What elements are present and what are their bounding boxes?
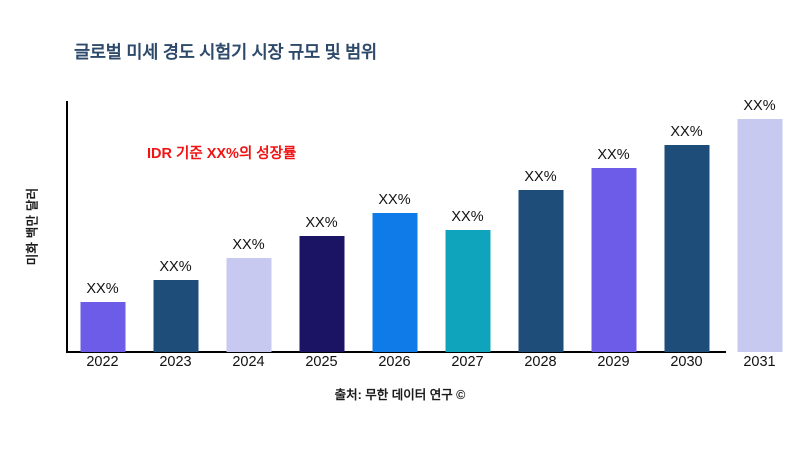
- chart-canvas: 글로벌 미세 경도 시험기 시장 규모 및 범위 미화 백만 달러 IDR 기준…: [0, 0, 800, 450]
- bar-slot: XX%: [577, 101, 650, 352]
- x-tick-2029: 2029: [577, 354, 650, 370]
- bar-slot: XX%: [358, 101, 431, 352]
- x-tick-2022: 2022: [66, 354, 139, 370]
- bar-2028[interactable]: [518, 190, 563, 352]
- bar-slot: XX%: [212, 101, 285, 352]
- x-tick-2030: 2030: [650, 354, 723, 370]
- y-axis-label: 미화 백만 달러: [22, 188, 41, 266]
- y-axis-label-container: 미화 백만 달러: [0, 101, 62, 352]
- source-caption: 출처: 무한 데이터 연구 ©: [0, 384, 800, 403]
- x-tick-2024: 2024: [212, 354, 285, 370]
- bar-slot: XX%: [650, 101, 723, 352]
- bar-value-label-2030: XX%: [670, 124, 702, 140]
- bar-2024[interactable]: [226, 258, 271, 352]
- bar-slot: XX%: [66, 101, 139, 352]
- bar-slot: XX%: [723, 101, 796, 352]
- x-tick-2028: 2028: [504, 354, 577, 370]
- x-tick-2026: 2026: [358, 354, 431, 370]
- x-tick-2027: 2027: [431, 354, 504, 370]
- bar-slot: XX%: [504, 101, 577, 352]
- bar-2023[interactable]: [153, 280, 198, 352]
- bar-2030[interactable]: [664, 145, 709, 352]
- bar-slot: XX%: [139, 101, 212, 352]
- x-tick-2025: 2025: [285, 354, 358, 370]
- bar-value-label-2029: XX%: [597, 147, 629, 163]
- x-tick-2023: 2023: [139, 354, 212, 370]
- page-title: 글로벌 미세 경도 시험기 시장 규모 및 범위: [74, 39, 377, 64]
- x-axis-tick-labels: 2022202320242025202620272028202920302031: [66, 354, 800, 378]
- bar-2026[interactable]: [372, 213, 417, 352]
- bar-series: XX%XX%XX%XX%XX%XX%XX%XX%XX%XX%: [66, 101, 800, 352]
- bar-value-label-2024: XX%: [232, 237, 264, 253]
- bar-2022[interactable]: [80, 302, 125, 352]
- x-tick-2031: 2031: [723, 354, 796, 370]
- bar-2031[interactable]: [737, 119, 782, 352]
- bar-value-label-2028: XX%: [524, 169, 556, 185]
- bar-2027[interactable]: [445, 230, 490, 352]
- bar-slot: XX%: [285, 101, 358, 352]
- bar-value-label-2026: XX%: [378, 192, 410, 208]
- bar-slot: XX%: [431, 101, 504, 352]
- bar-value-label-2025: XX%: [305, 215, 337, 231]
- bar-value-label-2022: XX%: [86, 281, 118, 297]
- bar-value-label-2023: XX%: [159, 259, 191, 275]
- bar-2029[interactable]: [591, 168, 636, 352]
- bar-value-label-2027: XX%: [451, 209, 483, 225]
- bar-value-label-2031: XX%: [743, 98, 775, 114]
- bar-2025[interactable]: [299, 236, 344, 352]
